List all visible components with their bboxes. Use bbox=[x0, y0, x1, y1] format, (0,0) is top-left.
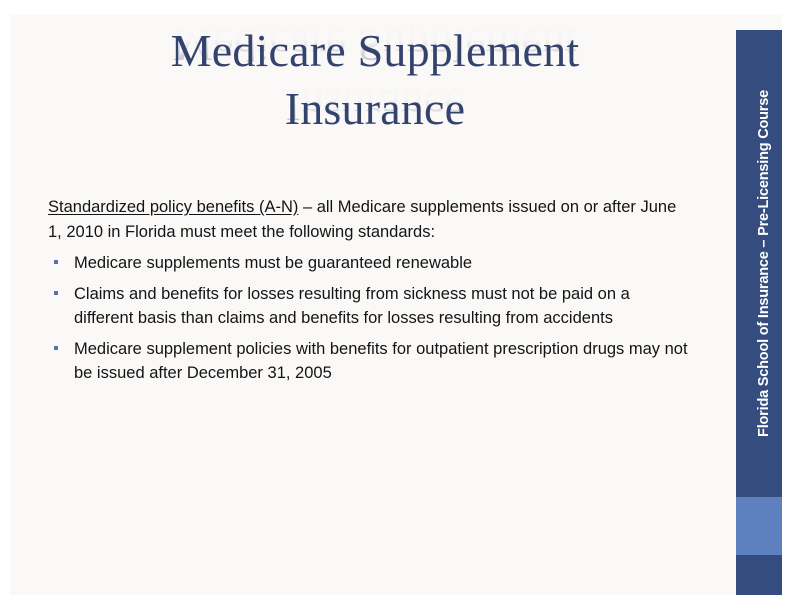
slide-body: Standardized policy benefits (A-N) – all… bbox=[48, 195, 688, 392]
bullet-list: Medicare supplements must be guaranteed … bbox=[48, 251, 688, 386]
title-line-1: Medicare Supplement bbox=[40, 25, 710, 77]
slide-canvas: Medicare Supplement Medicare Supplement … bbox=[10, 15, 782, 595]
list-item: Claims and benefits for losses resulting… bbox=[48, 282, 688, 331]
bullet-point-icon bbox=[54, 260, 58, 264]
list-item: Medicare supplements must be guaranteed … bbox=[48, 251, 688, 276]
title-line-1-wrapper: Medicare Supplement Medicare Supplement bbox=[40, 25, 710, 83]
sidebar-banner: Florida School of Insurance – Pre-Licens… bbox=[736, 30, 782, 595]
list-item-label: Medicare supplements must be guaranteed … bbox=[74, 254, 472, 272]
title-line-2-wrapper: Insurance Insurance bbox=[40, 83, 710, 143]
intro-lead-in: Standardized policy benefits (A-N) bbox=[48, 198, 298, 216]
sidebar-course-label: Florida School of Insurance – Pre-Licens… bbox=[736, 30, 782, 497]
bullet-point-icon bbox=[54, 291, 58, 295]
intro-paragraph: Standardized policy benefits (A-N) – all… bbox=[48, 195, 688, 245]
list-item-label: Medicare supplement policies with benefi… bbox=[74, 340, 688, 383]
title-line-2: Insurance bbox=[40, 83, 710, 135]
list-item: Medicare supplement policies with benefi… bbox=[48, 337, 688, 386]
slide-title: Medicare Supplement Medicare Supplement … bbox=[40, 25, 710, 143]
sidebar-band-middle bbox=[736, 497, 782, 555]
sidebar-band-bottom bbox=[736, 555, 782, 595]
list-item-label: Claims and benefits for losses resulting… bbox=[74, 285, 630, 328]
bullet-point-icon bbox=[54, 346, 58, 350]
